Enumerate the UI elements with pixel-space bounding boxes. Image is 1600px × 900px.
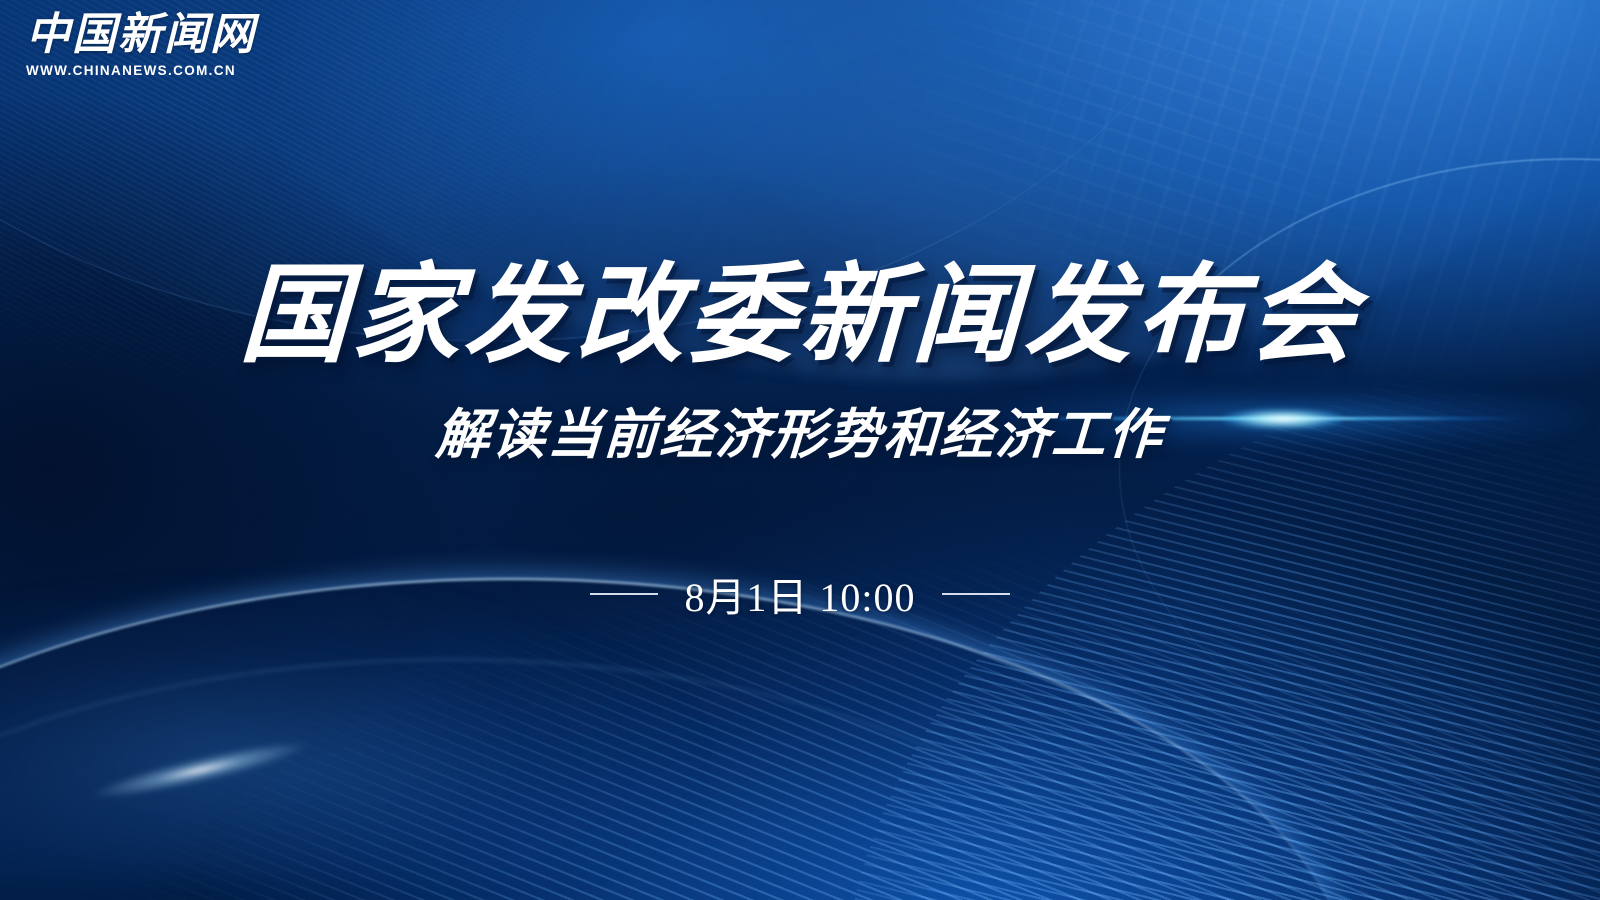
rule-left — [590, 593, 658, 595]
page-subtitle: 解读当前经济形势和经济工作 — [0, 390, 1600, 469]
datetime-row: 8月1日 10:00 — [0, 565, 1600, 623]
page-title: 国家发改委新闻发布会 — [0, 255, 1600, 376]
logo-wordmark: 中国新闻网 — [26, 12, 246, 58]
news-conference-poster: 中国新闻网 WWW.CHINANEWS.COM.CN 国家发改委新闻发布会 解读… — [0, 0, 1600, 900]
logo-website-url: WWW.CHINANEWS.COM.CN — [26, 63, 246, 78]
rule-right — [942, 593, 1010, 595]
event-datetime: 8月1日 10:00 — [684, 565, 915, 623]
poster-content: 国家发改委新闻发布会 解读当前经济形势和经济工作 8月1日 10:00 — [0, 255, 1600, 623]
chinanews-logo[interactable]: 中国新闻网 WWW.CHINANEWS.COM.CN — [26, 12, 246, 78]
